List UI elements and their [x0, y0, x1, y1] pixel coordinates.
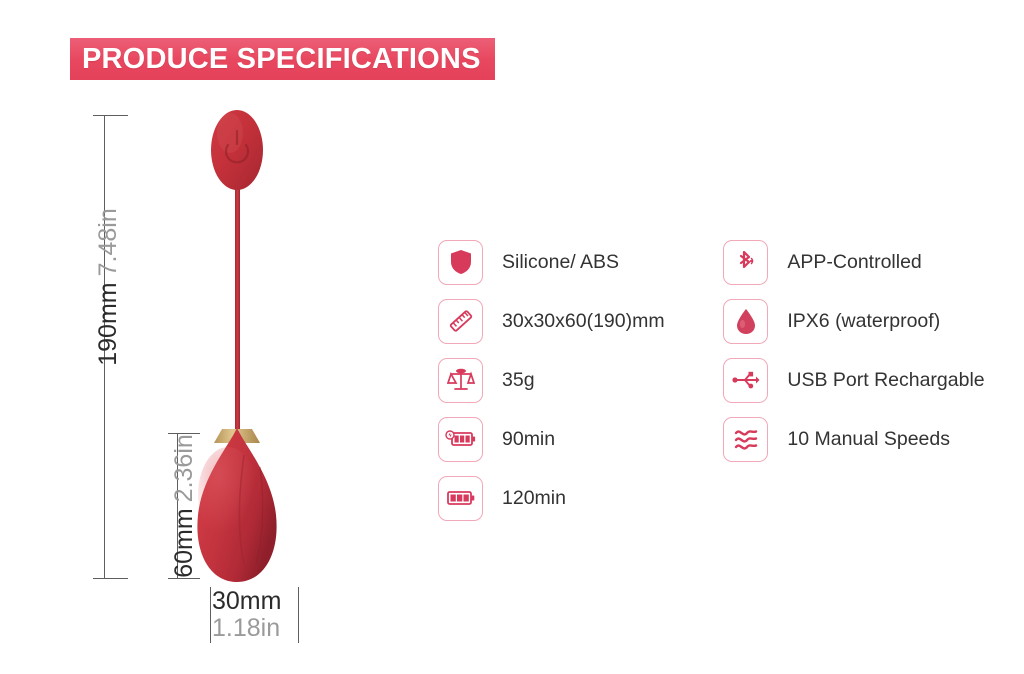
- shield-icon: [438, 240, 483, 285]
- spec-row-waterproof: IPX6 (waterproof): [723, 297, 1008, 345]
- waves-icon: [723, 417, 768, 462]
- spec-label-working-time: 90min: [502, 428, 555, 451]
- ruler-icon: [438, 299, 483, 344]
- specifications-list: Silicone/ ABS 30x30x6: [438, 238, 1008, 522]
- spec-row-charging-port: USB Port Rechargable: [723, 356, 1008, 404]
- spec-row-material: Silicone/ ABS: [438, 238, 683, 286]
- spec-row-charging-time: 120min: [438, 474, 683, 522]
- usb-icon: [723, 358, 768, 403]
- spec-label-weight: 35g: [502, 369, 535, 392]
- spec-row-speeds: 10 Manual Speeds: [723, 415, 1008, 463]
- spec-label-app-control: APP-Controlled: [787, 251, 921, 274]
- spec-label-speeds: 10 Manual Speeds: [787, 428, 950, 451]
- dimension-cap-left-width: [210, 587, 211, 643]
- spec-label-charging-time: 120min: [502, 487, 566, 510]
- balance-scale-icon: [438, 358, 483, 403]
- product-illustration: 190mm 7.48in 60mm 2.36in 30mm 1.18in: [80, 95, 410, 655]
- dimension-label-total-length: 190mm 7.48in: [94, 207, 138, 367]
- battery-full-icon: [438, 476, 483, 521]
- battery-charging-icon: [438, 417, 483, 462]
- spec-column-right: APP-Controlled IPX6 (waterproof): [723, 238, 1008, 522]
- dimension-cap-bottom-total: [93, 578, 128, 579]
- dimension-cap-right-width: [298, 587, 299, 643]
- page-title-banner: PRODUCE SPECIFICATIONS: [70, 38, 495, 80]
- product-specification-page: PRODUCE SPECIFICATIONS 190mm 7.48in 60mm…: [0, 0, 1024, 674]
- spec-column-left: Silicone/ ABS 30x30x6: [438, 238, 683, 522]
- spec-row-size: 30x30x60(190)mm: [438, 297, 683, 345]
- dimension-label-body-width: 30mm 1.18in: [212, 588, 281, 642]
- spec-label-material: Silicone/ ABS: [502, 251, 619, 274]
- spec-row-app-control: APP-Controlled: [723, 238, 1008, 286]
- page-title: PRODUCE SPECIFICATIONS: [82, 45, 481, 74]
- dimension-mm-total: 190mm: [94, 282, 123, 365]
- dimension-cap-top-total: [93, 115, 128, 116]
- bluetooth-icon: [723, 240, 768, 285]
- spec-label-charging-port: USB Port Rechargable: [787, 369, 984, 392]
- spec-label-waterproof: IPX6 (waterproof): [787, 310, 940, 333]
- connecting-cord: [235, 175, 240, 440]
- dimension-in-width: 1.18in: [212, 615, 280, 642]
- spec-label-size: 30x30x60(190)mm: [502, 310, 665, 333]
- dimension-in-total: 7.48in: [94, 208, 123, 276]
- spec-row-working-time: 90min: [438, 415, 683, 463]
- spec-row-weight: 35g: [438, 356, 683, 404]
- remote-highlight: [217, 113, 243, 153]
- product-image: [140, 95, 340, 595]
- water-drop-icon: [723, 299, 768, 344]
- body-highlight: [198, 447, 258, 543]
